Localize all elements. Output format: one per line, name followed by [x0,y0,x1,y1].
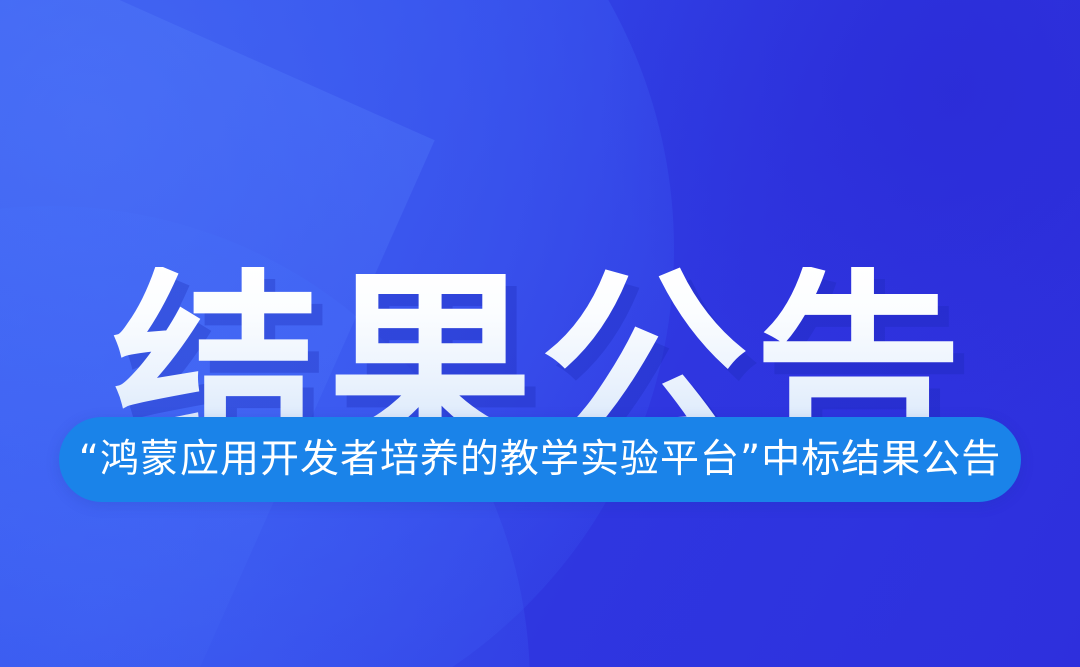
subtitle-text: “鸿蒙应用开发者培养的教学实验平台”中标结果公告 [79,440,1001,479]
announcement-banner: 结果公告 “鸿蒙应用开发者培养的教学实验平台”中标结果公告 [0,0,1080,667]
banner-content: 结果公告 “鸿蒙应用开发者培养的教学实验平台”中标结果公告 [0,0,1080,667]
subtitle-pill: “鸿蒙应用开发者培养的教学实验平台”中标结果公告 [59,417,1021,502]
